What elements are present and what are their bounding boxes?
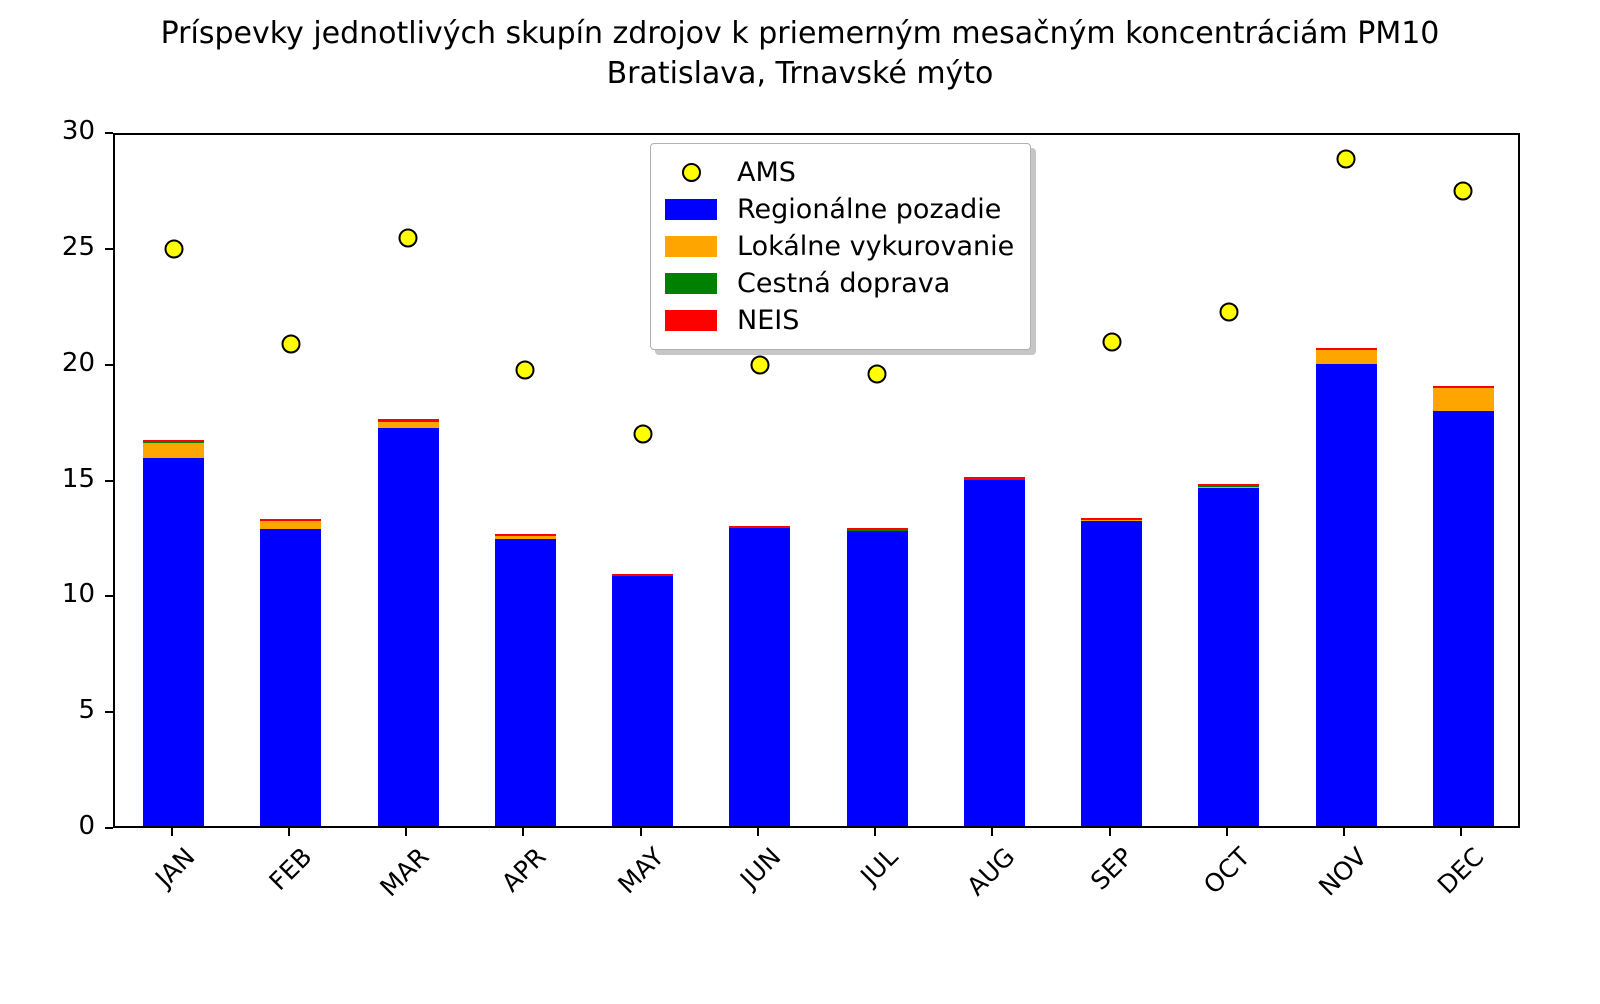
y-tick-mark bbox=[105, 595, 113, 597]
legend-item-label: Regionálne pozadie bbox=[737, 194, 1001, 225]
bar-stack[interactable] bbox=[1081, 131, 1142, 826]
bar-segment bbox=[260, 521, 321, 529]
y-tick-mark bbox=[105, 711, 113, 713]
chart-title: Príspevky jednotlivých skupín zdrojov k … bbox=[0, 14, 1600, 93]
ams-marker[interactable] bbox=[1219, 302, 1238, 321]
x-tick-mark bbox=[991, 828, 993, 836]
bar-segment bbox=[729, 528, 790, 826]
legend-swatch-icon bbox=[665, 310, 717, 331]
bar-segment bbox=[378, 422, 439, 428]
bar-segment bbox=[1198, 488, 1259, 826]
bar-segment bbox=[1316, 350, 1377, 364]
legend-item-label: Cestná doprava bbox=[737, 268, 950, 299]
bar-stack[interactable] bbox=[1316, 131, 1377, 826]
bar-segment bbox=[143, 440, 204, 442]
bar-segment bbox=[495, 534, 556, 536]
bar-segment bbox=[1433, 386, 1494, 388]
legend-marker-3 bbox=[665, 273, 717, 294]
legend-item[interactable]: AMS bbox=[665, 154, 1014, 191]
x-tick-mark bbox=[405, 828, 407, 836]
bar-segment bbox=[1316, 364, 1377, 826]
ams-marker[interactable] bbox=[750, 355, 769, 374]
bar-stack[interactable] bbox=[260, 131, 321, 826]
legend-item-label: Lokálne vykurovanie bbox=[737, 231, 1014, 262]
x-tick-mark bbox=[1460, 828, 1462, 836]
x-tick-mark bbox=[288, 828, 290, 836]
ams-marker[interactable] bbox=[399, 228, 418, 247]
ams-marker[interactable] bbox=[1102, 332, 1121, 351]
legend-item[interactable]: Lokálne vykurovanie bbox=[665, 228, 1014, 265]
bar-segment bbox=[260, 519, 321, 521]
bar-stack[interactable] bbox=[1198, 131, 1259, 826]
chart-legend: AMSRegionálne pozadieLokálne vykurovanie… bbox=[650, 143, 1031, 350]
legend-circle-icon bbox=[682, 163, 701, 182]
bar-segment bbox=[143, 443, 204, 458]
legend-marker-2 bbox=[665, 236, 717, 257]
y-tick-label: 30 bbox=[0, 116, 95, 146]
y-tick-label: 15 bbox=[0, 464, 95, 494]
bar-segment bbox=[1316, 348, 1377, 350]
y-tick-label: 25 bbox=[0, 232, 95, 262]
bar-segment bbox=[1081, 521, 1142, 826]
y-tick-label: 5 bbox=[0, 695, 95, 725]
y-tick-label: 10 bbox=[0, 579, 95, 609]
legend-item[interactable]: NEIS bbox=[665, 302, 1014, 339]
x-tick-mark bbox=[1226, 828, 1228, 836]
bar-segment bbox=[847, 531, 908, 826]
x-tick-mark bbox=[522, 828, 524, 836]
y-tick-mark bbox=[105, 248, 113, 250]
bar-segment bbox=[495, 539, 556, 826]
legend-item[interactable]: Regionálne pozadie bbox=[665, 191, 1014, 228]
y-tick-label: 0 bbox=[0, 811, 95, 841]
bar-segment bbox=[495, 536, 556, 538]
bar-segment bbox=[1198, 484, 1259, 486]
bar-segment bbox=[964, 477, 1025, 479]
x-tick-mark bbox=[1109, 828, 1111, 836]
bar-segment bbox=[1081, 518, 1142, 520]
bar-segment bbox=[1433, 388, 1494, 411]
chart-figure: Príspevky jednotlivých skupín zdrojov k … bbox=[0, 0, 1600, 944]
legend-item-label: NEIS bbox=[737, 305, 799, 336]
bar-segment bbox=[964, 480, 1025, 826]
legend-marker-1 bbox=[665, 199, 717, 220]
bar-segment bbox=[378, 419, 439, 421]
ams-marker[interactable] bbox=[633, 425, 652, 444]
bar-segment bbox=[847, 528, 908, 530]
bar-segment bbox=[612, 574, 673, 576]
bar-segment bbox=[143, 458, 204, 826]
ams-marker[interactable] bbox=[164, 240, 183, 259]
ams-marker[interactable] bbox=[516, 360, 535, 379]
legend-item-label: AMS bbox=[737, 157, 796, 188]
y-tick-mark bbox=[105, 480, 113, 482]
x-tick-mark bbox=[171, 828, 173, 836]
bar-segment bbox=[260, 529, 321, 826]
bar-segment bbox=[378, 428, 439, 826]
bar-stack[interactable] bbox=[1433, 131, 1494, 826]
legend-marker-4 bbox=[665, 310, 717, 331]
ams-marker[interactable] bbox=[868, 365, 887, 384]
bar-segment bbox=[1433, 411, 1494, 826]
x-tick-mark bbox=[757, 828, 759, 836]
legend-item[interactable]: Cestná doprava bbox=[665, 265, 1014, 302]
legend-swatch-icon bbox=[665, 236, 717, 257]
x-tick-mark bbox=[640, 828, 642, 836]
bar-stack[interactable] bbox=[495, 131, 556, 826]
y-tick-label: 20 bbox=[0, 348, 95, 378]
legend-swatch-icon bbox=[665, 273, 717, 294]
y-tick-mark bbox=[105, 364, 113, 366]
x-tick-mark bbox=[874, 828, 876, 836]
ams-marker[interactable] bbox=[281, 335, 300, 354]
y-tick-mark bbox=[105, 827, 113, 829]
ams-marker[interactable] bbox=[1337, 149, 1356, 168]
y-tick-mark bbox=[105, 132, 113, 134]
bar-segment bbox=[612, 576, 673, 826]
bar-stack[interactable] bbox=[143, 131, 204, 826]
ams-marker[interactable] bbox=[1454, 182, 1473, 201]
x-tick-mark bbox=[1343, 828, 1345, 836]
legend-marker-ams bbox=[665, 162, 717, 183]
legend-swatch-icon bbox=[665, 199, 717, 220]
bar-segment bbox=[729, 526, 790, 528]
